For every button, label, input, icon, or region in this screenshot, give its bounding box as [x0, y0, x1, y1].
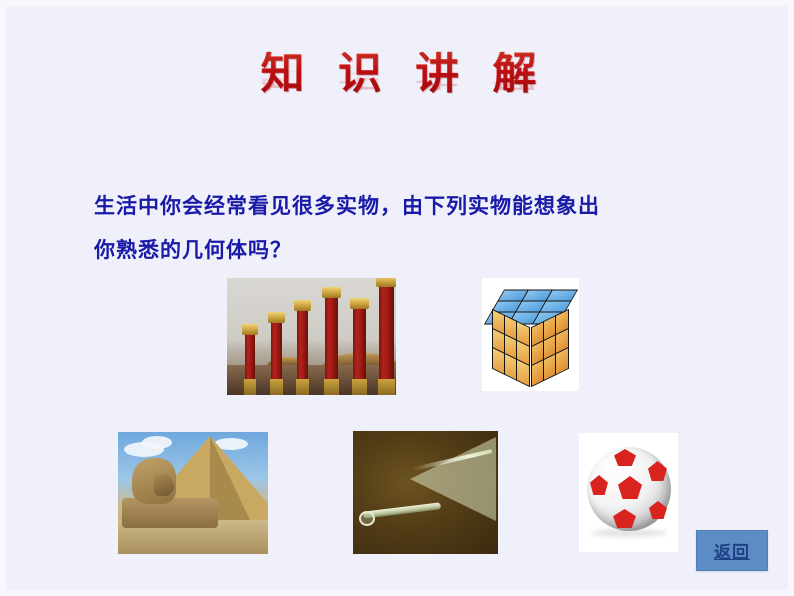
presentation-slide: 知 识 讲 解 知 识 讲 解 生活中你会经常看见很多实物，由下列实物能想象出 … — [0, 0, 794, 596]
image-soccer-ball — [579, 433, 678, 552]
sphere-shape — [587, 447, 671, 531]
ball-patch-bottom-right — [649, 501, 667, 519]
image-sphinx-pyramid — [118, 432, 268, 554]
column-3 — [297, 309, 308, 381]
image-chinese-columns — [227, 278, 396, 395]
page-title: 知 识 讲 解 — [261, 52, 546, 96]
funnel-tip — [359, 511, 375, 526]
image-rubiks-cube — [482, 278, 579, 391]
cube-shape — [490, 286, 572, 382]
return-button-label: 返回 — [714, 538, 750, 563]
return-button[interactable]: 返回 — [696, 530, 768, 571]
sphinx-face — [154, 474, 174, 496]
slide-title-block: 知 识 讲 解 知 识 讲 解 — [6, 52, 794, 134]
ball-patch-left — [590, 475, 608, 495]
image-glass-funnel — [353, 431, 498, 554]
body-question-text: 生活中你会经常看见很多实物，由下列实物能想象出 你熟悉的几何体吗？ — [94, 184, 724, 272]
ball-patch-bottom — [613, 509, 636, 528]
ball-patch-right — [648, 461, 667, 481]
ball-shadow — [591, 529, 667, 537]
ball-patch-top — [614, 449, 636, 466]
body-text-line-1: 生活中你会经常看见很多实物，由下列实物能想象出 — [94, 193, 600, 218]
column-1 — [245, 333, 255, 381]
column-2 — [271, 321, 282, 381]
column-5 — [353, 307, 366, 381]
column-6 — [379, 285, 394, 381]
body-text-line-2: 你熟悉的几何体吗？ — [94, 228, 724, 272]
sphinx-body — [122, 498, 218, 528]
column-4 — [325, 296, 338, 381]
ball-patch-center — [618, 476, 642, 499]
